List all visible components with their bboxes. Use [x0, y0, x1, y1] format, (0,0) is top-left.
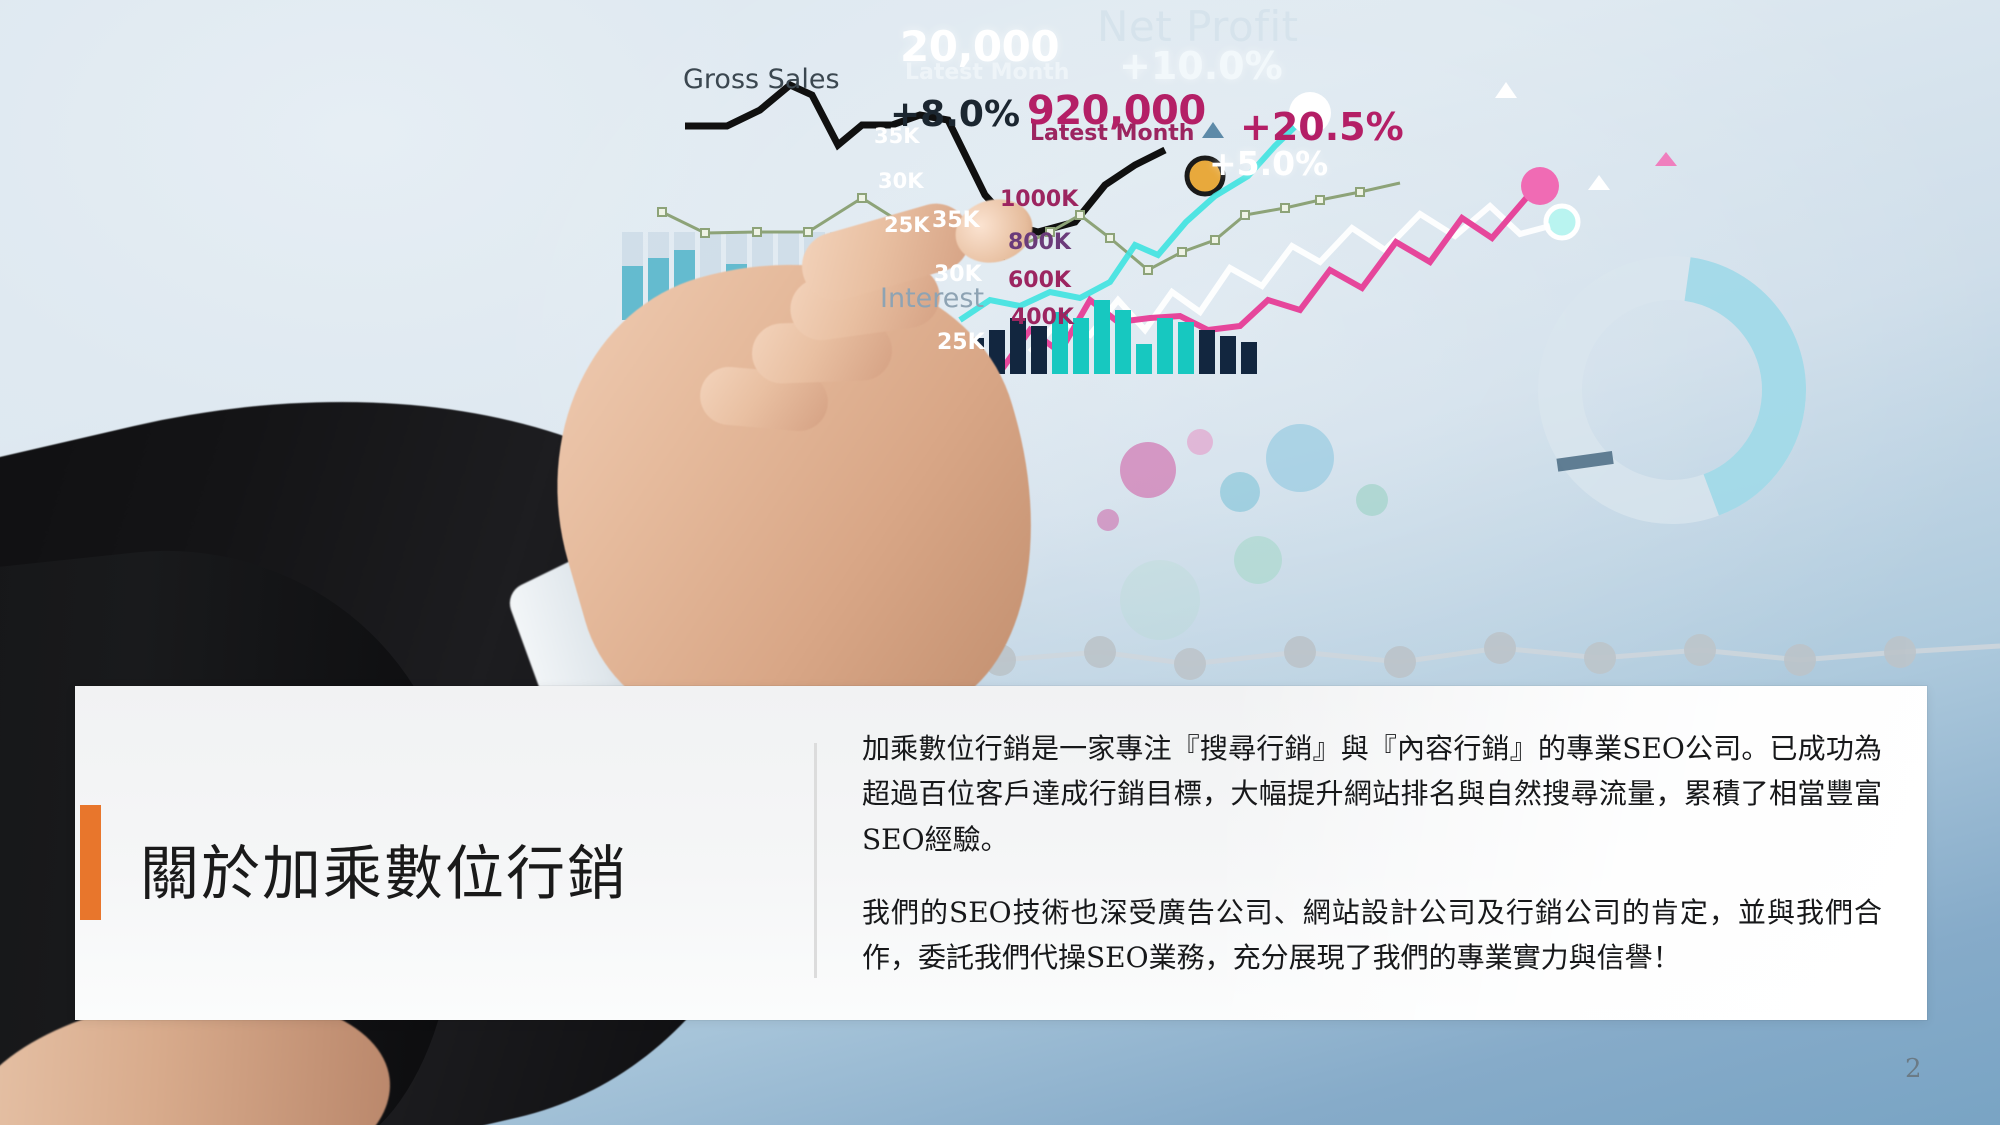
axis-tick-interest-25k: 25K [937, 330, 985, 355]
kpi-caption-revenue: Latest Month [1030, 121, 1194, 146]
page-title: 關於加乘數位行銷 [140, 840, 760, 908]
axis-tick-sales-30k: 30K [878, 169, 924, 193]
page-number: 2 [1905, 1054, 1922, 1084]
axis-tick-profit-400k: 400K [1011, 305, 1074, 330]
chart-label-gross-sales: Gross Sales [683, 64, 840, 95]
chart-label-interest: Interest [880, 283, 984, 314]
title-accent-bar [80, 805, 101, 920]
axis-tick-profit-600k: 600K [1008, 268, 1071, 293]
up-arrow-icon [1588, 175, 1610, 190]
body-paragraph-2: 我們的SEO技術也深受廣告公司、網站設計公司及行銷公司的肯定，並與我們合作，委託… [862, 890, 1882, 981]
up-arrow-icon [1495, 82, 1517, 98]
axis-tick-profit-800k: 800K [1008, 230, 1071, 255]
kpi-caption-gross-sales: Latest Month [905, 60, 1069, 85]
body-text: 加乘數位行銷是一家專注『搜尋行銷』與『內容行銷』的專業SEO公司。已成功為超過百… [862, 726, 1882, 981]
vertical-divider [814, 743, 817, 978]
kpi-change-secondary: +5.0% [1209, 144, 1328, 183]
axis-tick-sales-35k: 35K [874, 124, 920, 148]
body-paragraph-1: 加乘數位行銷是一家專注『搜尋行銷』與『內容行銷』的專業SEO公司。已成功為超過百… [862, 726, 1882, 862]
kpi-change-net-profit: +10.0% [1119, 44, 1283, 88]
up-arrow-icon [1202, 122, 1224, 138]
up-arrow-icon [1655, 152, 1677, 166]
kpi-change-revenue: +20.5% [1240, 105, 1404, 149]
slide: Gross Sales Interest Net Profit 20,000 L… [0, 0, 2000, 1125]
axis-tick-interest-35k: 35K [932, 208, 980, 233]
axis-tick-profit-1000k: 1000K [1000, 187, 1078, 212]
axis-tick-interest-30k: 30K [934, 262, 982, 287]
axis-tick-sales-25k: 25K [884, 213, 930, 237]
